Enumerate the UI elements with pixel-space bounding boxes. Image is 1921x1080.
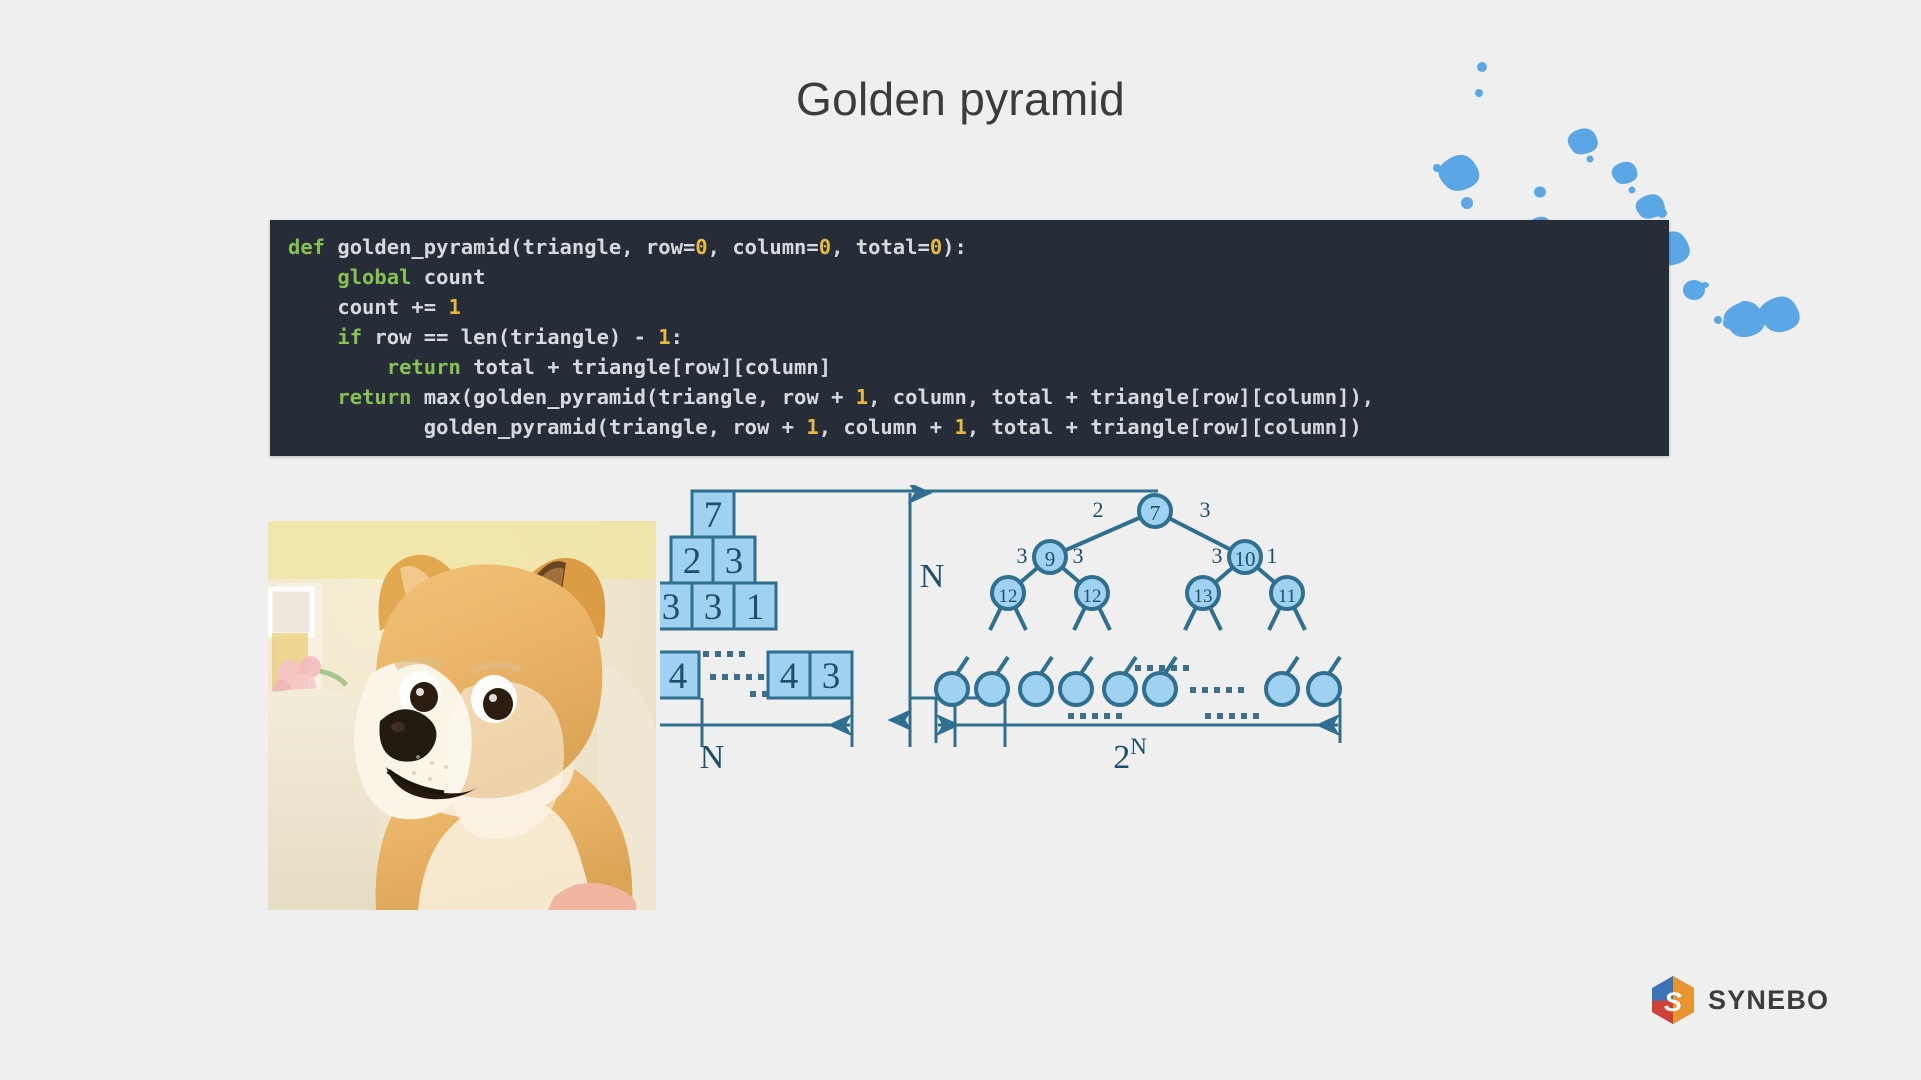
tree-node: 7 xyxy=(1150,501,1161,525)
n-width-measure: N xyxy=(660,698,852,776)
synebo-hexagon-icon: S xyxy=(1650,975,1696,1025)
edge-label: 3 xyxy=(1212,543,1223,568)
two-pow-n-base: 2 xyxy=(1113,739,1130,776)
pyramid-top-boxes: 7 2 3 3 3 1 xyxy=(660,491,776,629)
edge-label: 3 xyxy=(1073,543,1084,568)
complexity-diagram: 7 2 3 3 3 1 xyxy=(660,485,1700,925)
svg-text:2N: 2N xyxy=(1113,734,1147,776)
n-height-label: N xyxy=(920,558,945,595)
edge-label: 1 xyxy=(1267,543,1278,568)
logo-wordmark: SYNEBO xyxy=(1708,985,1829,1016)
edge-label: 2 xyxy=(1093,497,1104,522)
n-width-label: N xyxy=(700,739,725,776)
pyramid-cell: 7 xyxy=(704,495,723,536)
page-title: Golden pyramid xyxy=(0,72,1921,126)
pyramid-cell: 3 xyxy=(725,541,744,582)
code-snippet-block: def golden_pyramid(triangle, row=0, colu… xyxy=(270,220,1669,456)
pyramid-cell: 3 xyxy=(704,587,723,628)
pyramid-cell: 3 xyxy=(662,587,681,628)
tree-node: 10 xyxy=(1235,547,1256,571)
two-pow-n-measure: 2N xyxy=(936,698,1340,776)
bottom-cell: 4 xyxy=(780,656,799,697)
edge-label: 3 xyxy=(1017,543,1028,568)
logo-mark-letter: S xyxy=(1664,987,1682,1017)
tree-nodes: 7 9 10 12 12 13 11 xyxy=(992,495,1303,609)
tree-leaf-row xyxy=(936,657,1340,705)
tree-node: 11 xyxy=(1278,586,1296,607)
code-text: def golden_pyramid(triangle, row=0, colu… xyxy=(270,220,1669,452)
bottom-cell: 4 xyxy=(669,656,688,697)
doge-meme-image xyxy=(268,521,656,910)
tree-node: 9 xyxy=(1045,547,1056,571)
pyramid-cell: 1 xyxy=(746,587,765,628)
tree-node: 13 xyxy=(1194,586,1213,607)
pyramid-cell: 2 xyxy=(683,541,702,582)
doge-illustration xyxy=(268,521,656,910)
leaf-row-ellipsis-dots xyxy=(1190,687,1244,693)
tree-node: 12 xyxy=(999,586,1018,607)
bottom-cell: 3 xyxy=(822,656,841,697)
edge-label: 3 xyxy=(1200,497,1211,522)
bottom-row-ellipsis-dots xyxy=(710,674,764,680)
tree-edges xyxy=(990,511,1305,630)
tree-node: 12 xyxy=(1083,586,1102,607)
synebo-logo: S SYNEBO xyxy=(1650,975,1829,1025)
two-pow-n-exponent: N xyxy=(1130,734,1147,759)
